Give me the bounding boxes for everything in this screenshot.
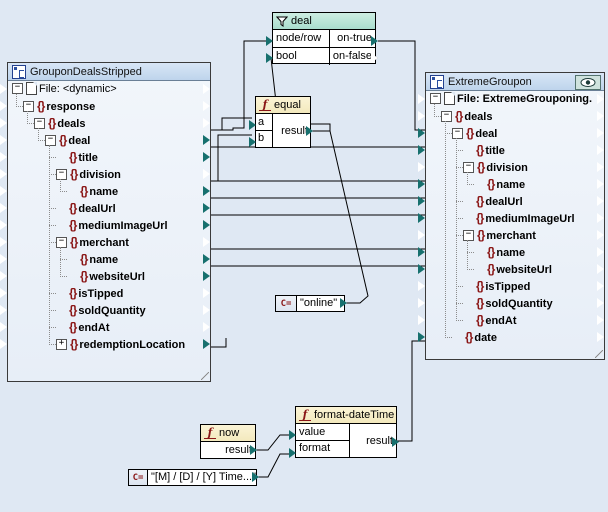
target-schema-panel[interactable]: ExtremeGroupon −File: ExtremeGrouponing.… <box>425 72 605 360</box>
tree-row-output-port[interactable] <box>597 145 604 155</box>
preview-eye-icon[interactable] <box>575 75 601 90</box>
element-node-icon: {} <box>465 330 472 344</box>
tree-row-label: endAt <box>485 315 516 327</box>
tree-guide-line <box>60 247 61 277</box>
tree-row-content: {}date <box>452 332 497 344</box>
tree-row[interactable]: {}soldQuantity <box>8 302 210 319</box>
tree-guide-line <box>456 138 457 321</box>
tree-row-input-port[interactable] <box>0 288 7 298</box>
tree-guide-line <box>467 240 468 270</box>
tree-row-content: {}dealUrl <box>56 203 116 215</box>
collapse-icon[interactable]: − <box>23 101 34 112</box>
tree-row[interactable]: {}mediumImageUrl <box>426 210 604 227</box>
tree-row-content: {}mediumImageUrl <box>56 220 168 232</box>
equal-output-result[interactable]: result <box>273 114 310 148</box>
source-schema-tree[interactable]: −File: <dynamic>−{}response−{}deals−{}de… <box>8 81 210 353</box>
element-node-icon: {} <box>476 279 483 293</box>
tree-row-input-port[interactable] <box>0 254 7 264</box>
tree-row-output-port[interactable] <box>203 203 210 213</box>
equal-port-a-in[interactable] <box>249 120 256 130</box>
tree-row-label: division <box>79 169 121 181</box>
tree-row-output-port[interactable] <box>597 281 604 291</box>
filter-node-title: deal <box>291 13 312 29</box>
tree-row-input-port[interactable] <box>0 203 7 213</box>
tree-row-output-port[interactable] <box>203 237 210 247</box>
tree-row-output-port[interactable] <box>203 152 210 162</box>
tree-row-content: {}websiteUrl <box>67 271 145 283</box>
fx-icon: f <box>299 409 311 421</box>
funnel-icon <box>276 16 288 27</box>
now-node-title-bar: f now <box>201 425 255 442</box>
tree-row-content: {}websiteUrl <box>474 264 552 276</box>
tree-row-input-port[interactable] <box>418 298 425 308</box>
tree-row-content: −{}merchant <box>463 230 536 242</box>
tree-guide-line <box>49 174 56 175</box>
tree-guide-line <box>467 269 474 270</box>
tree-row-output-port[interactable] <box>597 94 604 104</box>
resize-grip[interactable] <box>595 350 603 358</box>
element-node-icon: {} <box>80 184 87 198</box>
file-icon <box>444 92 455 105</box>
tree-row-label: dealUrl <box>485 196 522 208</box>
target-schema-title: ExtremeGroupon <box>448 76 532 88</box>
tree-row-content: {}soldQuantity <box>463 298 553 310</box>
tree-row-content: {}name <box>67 254 118 266</box>
tree-row[interactable]: {}websiteUrl <box>8 268 210 285</box>
tree-row[interactable]: {}title <box>426 142 604 159</box>
tree-row[interactable]: {}mediumImageUrl <box>8 217 210 234</box>
tree-row-output-port[interactable] <box>597 111 604 121</box>
equal-input-b[interactable]: b <box>256 131 272 147</box>
tree-row-input-port[interactable] <box>418 281 425 291</box>
element-node-icon: {} <box>487 177 494 191</box>
constant-value-format[interactable]: "[M] / [D] / [Y] Time..." <box>148 470 256 485</box>
tree-row[interactable]: {}isTipped <box>8 285 210 302</box>
element-node-icon: {} <box>69 218 76 232</box>
element-node-icon: {} <box>476 296 483 310</box>
collapse-icon[interactable]: − <box>34 118 45 129</box>
filter-node-deal[interactable]: deal node/row on-true bool on-false <box>272 12 376 64</box>
format-port-result-out[interactable] <box>392 437 399 447</box>
tree-row-input-port[interactable] <box>0 339 7 349</box>
tree-row[interactable]: −{}merchant <box>426 227 604 244</box>
tree-row[interactable]: −{}division <box>8 166 210 183</box>
constant-icon: C= <box>276 296 297 311</box>
tree-row-content: −{}division <box>56 169 121 181</box>
tree-row-input-port[interactable] <box>0 322 7 332</box>
element-node-icon: {} <box>70 235 77 249</box>
tree-row[interactable]: {}name <box>8 251 210 268</box>
tree-guide-line <box>456 167 463 168</box>
tree-guide-line <box>445 337 452 338</box>
tree-row[interactable]: −{}merchant <box>8 234 210 251</box>
tree-row-label: merchant <box>79 237 129 249</box>
tree-row[interactable]: {}name <box>8 183 210 200</box>
tree-guide-line <box>49 242 56 243</box>
element-node-icon: {} <box>48 116 55 130</box>
collapse-icon[interactable]: − <box>441 111 452 122</box>
format-input-value[interactable]: value <box>296 424 349 441</box>
fx-icon: f <box>204 427 216 439</box>
tree-guide-line <box>456 286 463 287</box>
element-node-icon: {} <box>477 160 484 174</box>
tree-row-input-port[interactable] <box>0 84 7 94</box>
filter-port-on-false-out[interactable] <box>371 53 378 63</box>
tree-row-input-port[interactable] <box>0 169 7 179</box>
tree-row-input-port[interactable] <box>0 152 7 162</box>
target-schema-title-bar[interactable]: ExtremeGroupon <box>426 73 604 91</box>
tree-row-input-port[interactable] <box>418 111 425 121</box>
tree-row-input-port[interactable] <box>418 264 425 274</box>
tree-row-output-port[interactable] <box>597 298 604 308</box>
tree-row-output-port[interactable] <box>597 179 604 189</box>
element-node-icon: {} <box>69 150 76 164</box>
constant-value-online[interactable]: "online" <box>297 296 344 311</box>
tree-row-output-port[interactable] <box>203 84 210 94</box>
tree-row-content: −{}division <box>463 162 528 174</box>
tree-row-output-port[interactable] <box>597 247 604 257</box>
element-node-icon: {} <box>476 194 483 208</box>
tree-row-label: name <box>89 186 118 198</box>
tree-guide-line <box>456 320 463 321</box>
filter-input-bool[interactable]: bool <box>273 48 330 65</box>
equal-node-title: equal <box>274 97 301 113</box>
tree-row-label: File: <dynamic> <box>39 83 117 95</box>
tree-row-label: merchant <box>486 230 536 242</box>
tree-row-output-port[interactable] <box>203 220 210 230</box>
tree-row[interactable]: {}isTipped <box>426 278 604 295</box>
tree-row-content: {}name <box>474 247 525 259</box>
tree-row[interactable]: {}websiteUrl <box>426 261 604 278</box>
constant-format-port-out[interactable] <box>252 472 259 482</box>
format-input-format[interactable]: format <box>296 441 349 457</box>
tree-row-input-port[interactable] <box>0 237 7 247</box>
tree-row-input-port[interactable] <box>0 101 7 111</box>
tree-row[interactable]: {}soldQuantity <box>426 295 604 312</box>
tree-row-label: name <box>496 247 525 259</box>
tree-guide-line <box>60 191 67 192</box>
tree-row-label: deal <box>475 128 497 140</box>
tree-guide-line <box>434 116 441 117</box>
tree-row-content: −{}deal <box>45 135 90 147</box>
tree-row-content: {}mediumImageUrl <box>463 213 575 225</box>
resize-grip[interactable] <box>201 372 209 380</box>
tree-row-label: isTipped <box>78 288 123 300</box>
tree-row-output-port[interactable] <box>203 322 210 332</box>
tree-row-input-port[interactable] <box>418 230 425 240</box>
tree-row[interactable]: {}endAt <box>8 319 210 336</box>
tree-guide-line <box>60 259 67 260</box>
equal-input-a[interactable]: a <box>256 114 272 131</box>
tree-guide-line <box>49 225 56 226</box>
constant-node-format[interactable]: C= "[M] / [D] / [Y] Time..." <box>128 469 257 486</box>
tree-row-output-port[interactable] <box>203 271 210 281</box>
tree-row-input-port[interactable] <box>0 135 7 145</box>
tree-row-output-port[interactable] <box>203 186 210 196</box>
element-node-icon: {} <box>70 167 77 181</box>
tree-row-input-port[interactable] <box>0 118 7 128</box>
tree-guide-line <box>49 157 56 158</box>
tree-guide-line <box>27 123 34 124</box>
collapse-icon[interactable]: − <box>56 169 67 180</box>
tree-row-content: {}isTipped <box>56 288 123 300</box>
filter-port-bool-in[interactable] <box>266 53 273 63</box>
tree-row[interactable]: {}date <box>426 329 604 346</box>
tree-row[interactable]: −{}division <box>426 159 604 176</box>
tree-row-content: −{}merchant <box>56 237 129 249</box>
tree-row-label: File: ExtremeGrouponing. <box>457 93 592 105</box>
tree-row[interactable]: −File: ExtremeGrouponing. <box>426 91 604 108</box>
tree-row-input-port[interactable] <box>418 196 425 206</box>
tree-row-output-port[interactable] <box>203 288 210 298</box>
tree-guide-line <box>49 344 56 345</box>
function-node-format-datetime[interactable]: f format-dateTime value format result <box>295 406 397 458</box>
tree-row-output-port[interactable] <box>203 135 210 145</box>
tree-row-label: redemptionLocation <box>79 339 185 351</box>
element-node-icon: {} <box>80 252 87 266</box>
tree-row-input-port[interactable] <box>418 162 425 172</box>
tree-row[interactable]: {}title <box>8 149 210 166</box>
tree-row-label: isTipped <box>485 281 530 293</box>
filter-port-on-true-out[interactable] <box>371 36 378 46</box>
constant-icon: C= <box>129 470 148 485</box>
tree-row-label: title <box>78 152 98 164</box>
tree-guide-line <box>456 201 463 202</box>
filter-row-bool: bool on-false <box>273 47 375 65</box>
tree-row-input-port[interactable] <box>0 186 7 196</box>
format-datetime-title: format-dateTime <box>314 407 394 423</box>
tree-row-content: {}title <box>56 152 98 164</box>
expand-icon[interactable]: + <box>56 339 67 350</box>
tree-row-input-port[interactable] <box>418 213 425 223</box>
tree-guide-line <box>49 327 56 328</box>
mapping-canvas[interactable]: GrouponDealsStripped −File: <dynamic>−{}… <box>0 0 608 512</box>
filter-row-node-row: node/row on-true <box>273 30 375 47</box>
element-node-icon: {} <box>487 262 494 276</box>
element-node-icon: {} <box>80 269 87 283</box>
collapse-icon[interactable]: − <box>12 83 23 94</box>
tree-row-label: soldQuantity <box>485 298 552 310</box>
tree-row-content: −{}deal <box>452 128 497 140</box>
collapse-icon[interactable]: − <box>452 128 463 139</box>
tree-row-label: date <box>474 332 497 344</box>
element-node-icon: {} <box>487 245 494 259</box>
tree-row-label: websiteUrl <box>496 264 552 276</box>
tree-row-content: {}endAt <box>463 315 517 327</box>
now-output-result[interactable]: result <box>201 442 255 459</box>
file-icon <box>26 82 37 95</box>
element-node-icon: {} <box>70 337 77 351</box>
tree-row-label: name <box>496 179 525 191</box>
tree-guide-line <box>49 310 56 311</box>
tree-row[interactable]: +{}redemptionLocation <box>8 336 210 353</box>
tree-row-output-port[interactable] <box>203 305 210 315</box>
tree-guide-line <box>49 208 56 209</box>
element-node-icon: {} <box>476 143 483 157</box>
tree-row-content: −{}deals <box>441 111 492 123</box>
tree-row-content: {}name <box>474 179 525 191</box>
tree-row-content: +{}redemptionLocation <box>56 339 185 351</box>
tree-row-label: websiteUrl <box>89 271 145 283</box>
tree-row-label: mediumImageUrl <box>78 220 167 232</box>
tree-row[interactable]: −File: <dynamic> <box>8 81 210 98</box>
tree-row-output-port[interactable] <box>597 315 604 325</box>
function-node-equal[interactable]: f equal a b result <box>255 96 311 148</box>
tree-row[interactable]: {}dealUrl <box>8 200 210 217</box>
tree-row-input-port[interactable] <box>418 179 425 189</box>
tree-row[interactable]: {}endAt <box>426 312 604 329</box>
element-node-icon: {} <box>466 126 473 140</box>
tree-guide-line <box>467 184 474 185</box>
tree-row-content: {}name <box>67 186 118 198</box>
element-node-icon: {} <box>69 286 76 300</box>
tree-row[interactable]: −{}deal <box>426 125 604 142</box>
tree-guide-line <box>60 276 67 277</box>
tree-row-content: −File: <dynamic> <box>12 83 117 95</box>
tree-row-input-port[interactable] <box>0 271 7 281</box>
tree-row-content: {}soldQuantity <box>56 305 146 317</box>
tree-row-label: name <box>89 254 118 266</box>
tree-guide-line <box>49 293 56 294</box>
filter-output-on-true[interactable]: on-true <box>330 30 375 47</box>
collapse-icon[interactable]: − <box>56 237 67 248</box>
tree-row-label: deals <box>464 111 492 123</box>
format-output-result[interactable]: result <box>350 424 396 458</box>
tree-row-content: −{}response <box>23 101 95 113</box>
format-port-format-in[interactable] <box>289 448 296 458</box>
tree-row[interactable]: {}dealUrl <box>426 193 604 210</box>
collapse-icon[interactable]: − <box>463 162 474 173</box>
tree-guide-line <box>445 133 452 134</box>
filter-node-title-bar: deal <box>273 13 375 30</box>
collapse-icon[interactable]: − <box>45 135 56 146</box>
element-node-icon: {} <box>476 313 483 327</box>
tree-row-content: {}dealUrl <box>463 196 523 208</box>
source-schema-title-bar[interactable]: GrouponDealsStripped <box>8 63 210 81</box>
element-node-icon: {} <box>69 201 76 215</box>
tree-row-label: response <box>46 101 95 113</box>
element-node-icon: {} <box>37 99 44 113</box>
now-port-result-out[interactable] <box>250 445 257 455</box>
tree-guide-line <box>49 145 50 345</box>
element-node-icon: {} <box>69 320 76 334</box>
source-schema-title: GrouponDealsStripped <box>30 66 142 78</box>
now-node-title: now <box>219 425 239 441</box>
tree-row-output-port[interactable] <box>597 264 604 274</box>
tree-row-input-port[interactable] <box>418 94 425 104</box>
tree-row-input-port[interactable] <box>418 332 425 342</box>
tree-row-input-port[interactable] <box>418 128 425 138</box>
filter-port-node-row-in[interactable] <box>266 36 273 46</box>
target-schema-tree[interactable]: −File: ExtremeGrouponing.−{}deals−{}deal… <box>426 91 604 346</box>
source-schema-panel[interactable]: GrouponDealsStripped −File: <dynamic>−{}… <box>7 62 211 382</box>
tree-row-label: soldQuantity <box>78 305 145 317</box>
tree-row-output-port[interactable] <box>597 196 604 206</box>
tree-row-output-port[interactable] <box>597 128 604 138</box>
tree-row-output-port[interactable] <box>597 230 604 240</box>
schema-icon <box>430 75 444 89</box>
filter-input-node-row[interactable]: node/row <box>273 30 330 47</box>
schema-icon <box>12 65 26 79</box>
tree-row-label: dealUrl <box>78 203 115 215</box>
collapse-icon[interactable]: − <box>463 230 474 241</box>
tree-row-label: deals <box>57 118 85 130</box>
function-node-now[interactable]: f now result <box>200 424 256 459</box>
element-node-icon: {} <box>455 109 462 123</box>
tree-row-output-port[interactable] <box>203 118 210 128</box>
equal-node-title-bar: f equal <box>256 97 310 114</box>
tree-row-output-port[interactable] <box>597 162 604 172</box>
element-node-icon: {} <box>476 211 483 225</box>
tree-row-input-port[interactable] <box>418 145 425 155</box>
tree-guide-line <box>456 150 463 151</box>
equal-port-result-out[interactable] <box>306 126 313 136</box>
collapse-icon[interactable]: − <box>430 93 441 104</box>
tree-row-content: {}isTipped <box>463 281 530 293</box>
tree-row[interactable]: −{}response <box>8 98 210 115</box>
tree-guide-line <box>456 235 463 236</box>
fx-icon: f <box>259 99 271 111</box>
equal-port-b-in[interactable] <box>249 137 256 147</box>
tree-row-content: −{}deals <box>34 118 85 130</box>
filter-output-on-false[interactable]: on-false <box>330 48 375 65</box>
tree-row[interactable]: −{}deals <box>426 108 604 125</box>
tree-row-label: division <box>486 162 528 174</box>
tree-guide-line <box>38 140 45 141</box>
tree-row-content: {}title <box>463 145 505 157</box>
format-datetime-title-bar: f format-dateTime <box>296 407 396 424</box>
tree-row-input-port[interactable] <box>418 315 425 325</box>
tree-row-output-port[interactable] <box>597 213 604 223</box>
tree-guide-line <box>456 303 463 304</box>
element-node-icon: {} <box>59 133 66 147</box>
tree-row-label: title <box>485 145 505 157</box>
tree-row-content: {}endAt <box>56 322 110 334</box>
element-node-icon: {} <box>477 228 484 242</box>
tree-row-output-port[interactable] <box>597 332 604 342</box>
tree-guide-line <box>16 106 23 107</box>
tree-row[interactable]: {}name <box>426 176 604 193</box>
tree-row[interactable]: {}name <box>426 244 604 261</box>
tree-row-label: endAt <box>78 322 109 334</box>
tree-row-input-port[interactable] <box>0 305 7 315</box>
tree-guide-line <box>445 121 446 338</box>
constant-node-online[interactable]: C= "online" <box>275 295 345 312</box>
tree-guide-line <box>467 252 474 253</box>
tree-row-output-port[interactable] <box>203 254 210 264</box>
format-port-value-in[interactable] <box>289 430 296 440</box>
tree-row-input-port[interactable] <box>418 247 425 257</box>
tree-row-output-port[interactable] <box>203 101 210 111</box>
tree-row-input-port[interactable] <box>0 220 7 230</box>
tree-row-label: deal <box>68 135 90 147</box>
tree-row-output-port[interactable] <box>203 169 210 179</box>
tree-guide-line <box>456 218 463 219</box>
tree-row-output-port[interactable] <box>203 339 210 349</box>
tree-row-label: mediumImageUrl <box>485 213 574 225</box>
constant-online-port-out[interactable] <box>340 298 347 308</box>
element-node-icon: {} <box>69 303 76 317</box>
tree-row-content: −File: ExtremeGrouponing. <box>430 93 592 105</box>
